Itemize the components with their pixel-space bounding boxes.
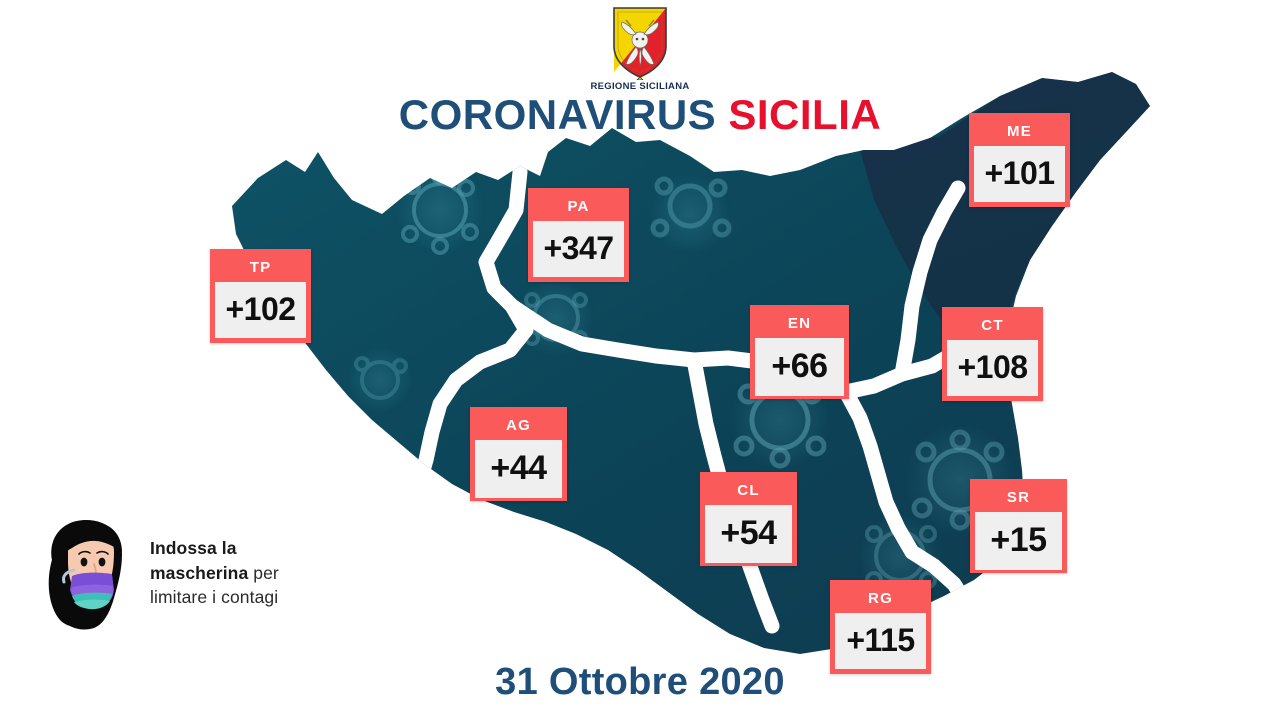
- province-new-cases-value: +108: [947, 340, 1038, 396]
- woman-wearing-face-mask-icon: [34, 514, 138, 632]
- province-badge-sr[interactable]: SR+15: [970, 479, 1067, 573]
- province-new-cases-value: +54: [705, 505, 792, 563]
- province-new-cases-value: +15: [975, 512, 1062, 570]
- province-badge-en[interactable]: EN+66: [750, 305, 849, 399]
- province-badge-ag[interactable]: AG+44: [470, 407, 567, 501]
- mask-advisory: Indossa la mascherina per limitare i con…: [34, 512, 374, 634]
- province-new-cases-value: +102: [215, 282, 306, 338]
- province-code-label: RG: [835, 585, 926, 613]
- province-new-cases-value: +101: [974, 146, 1065, 202]
- mask-line-2-bold: mascherina: [150, 563, 248, 583]
- province-code-label: CL: [705, 477, 792, 505]
- province-new-cases-value: +347: [533, 221, 624, 277]
- trinacria-shield-icon: [606, 4, 674, 80]
- province-code-label: CT: [947, 312, 1038, 340]
- mask-advisory-text: Indossa la mascherina per limitare i con…: [150, 536, 279, 611]
- title-sicilia: SICILIA: [728, 91, 881, 138]
- province-badge-rg[interactable]: RG+115: [830, 580, 931, 674]
- mask-line-2-rest: per: [248, 563, 279, 583]
- province-new-cases-value: +44: [475, 440, 562, 498]
- province-badge-ct[interactable]: CT+108: [942, 307, 1043, 401]
- province-code-label: AG: [475, 412, 562, 440]
- title-coronavirus: CORONAVIRUS: [399, 91, 716, 138]
- province-code-label: PA: [533, 193, 624, 221]
- province-code-label: EN: [755, 310, 844, 338]
- province-badge-tp[interactable]: TP+102: [210, 249, 311, 343]
- province-badge-pa[interactable]: PA+347: [528, 188, 629, 282]
- mask-line-3: limitare i contagi: [150, 587, 278, 607]
- page-title: CORONAVIRUS SICILIA: [0, 94, 1280, 136]
- province-badge-cl[interactable]: CL+54: [700, 472, 797, 566]
- province-code-label: SR: [975, 484, 1062, 512]
- mask-line-1: Indossa la: [150, 538, 237, 558]
- report-date: 31 Ottobre 2020: [0, 661, 1280, 704]
- regione-siciliana-emblem: REGIONE SICILIANA: [580, 4, 700, 92]
- province-new-cases-value: +66: [755, 338, 844, 396]
- province-code-label: TP: [215, 254, 306, 282]
- infographic-canvas: REGIONE SICILIANA CORONAVIRUS SICILIA ME…: [0, 0, 1280, 720]
